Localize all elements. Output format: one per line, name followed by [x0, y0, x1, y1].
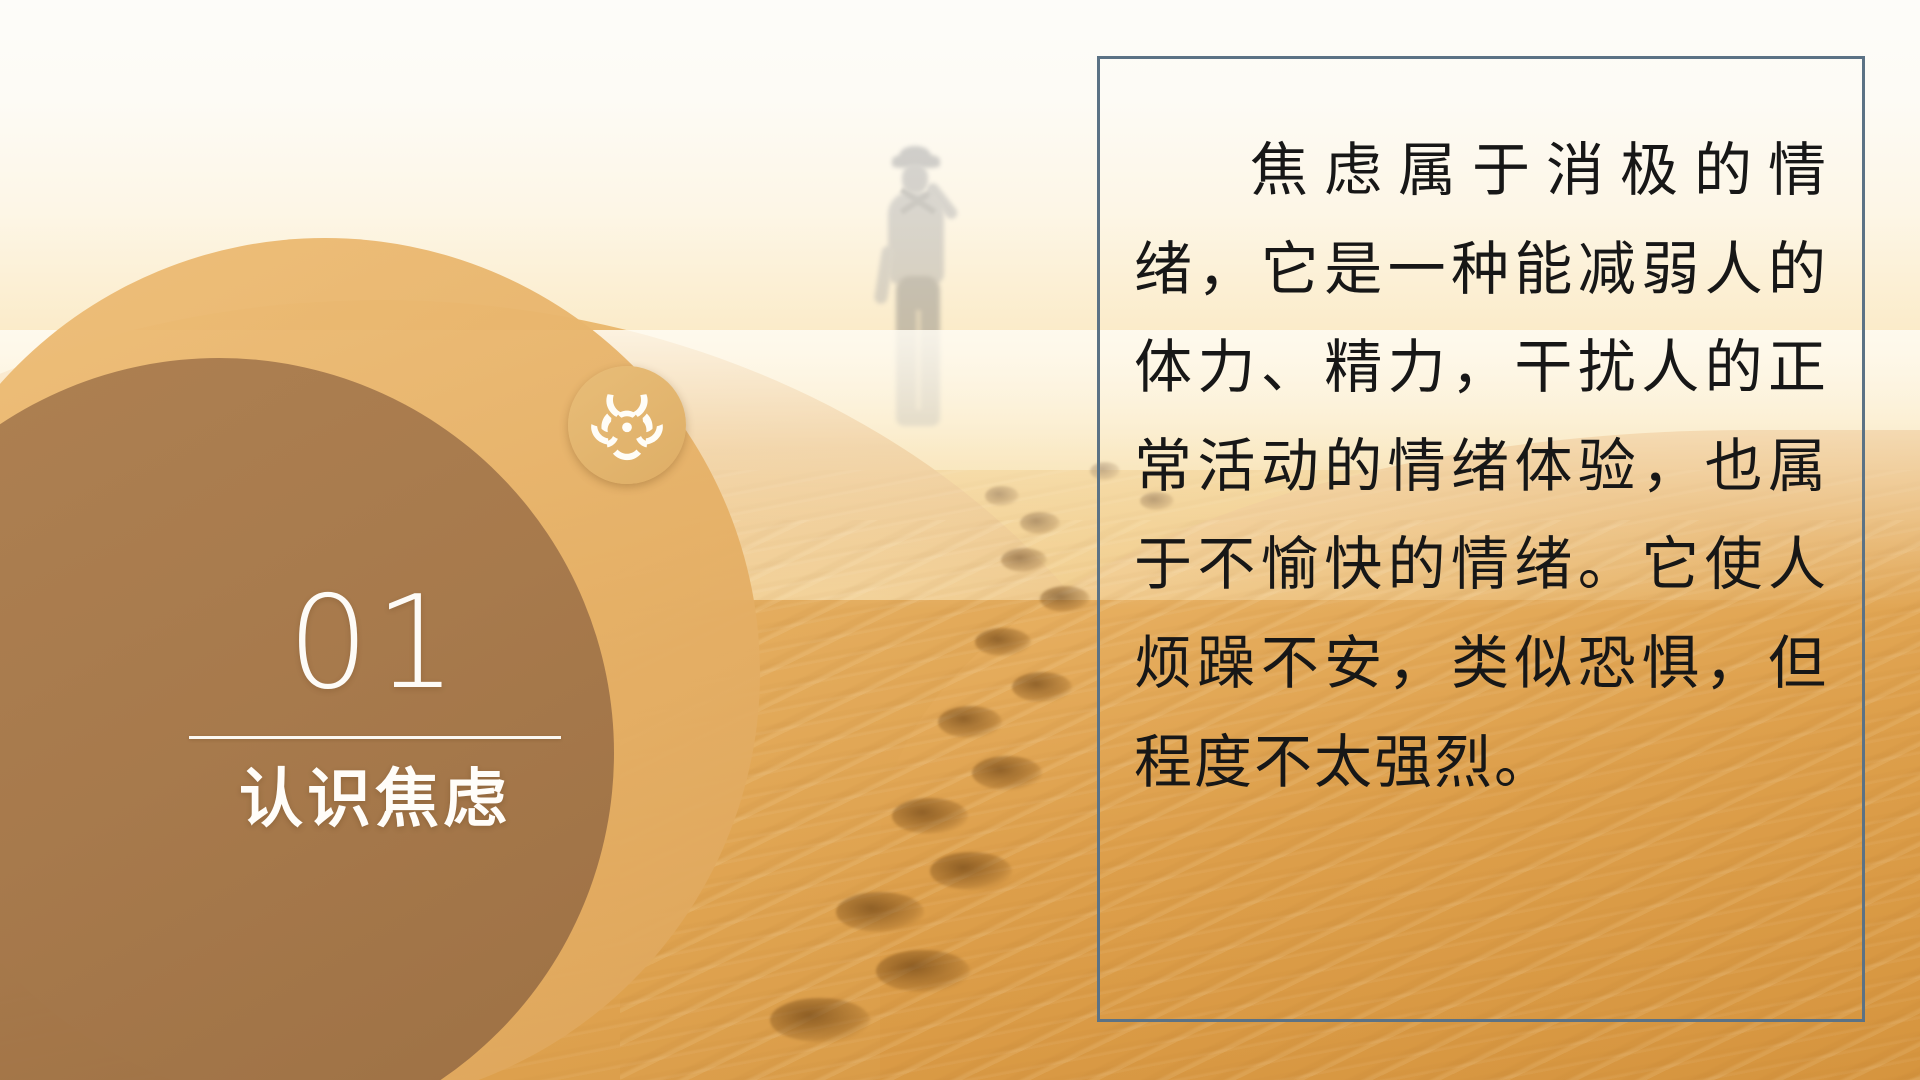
- title-divider: [189, 736, 561, 739]
- footprint: [836, 892, 924, 932]
- slide-canvas: 01 认识焦虑 焦虑属于消极的情绪，它是一种能减弱人的体力、精力，干扰人的正常活…: [0, 0, 1920, 1080]
- footprint: [985, 486, 1019, 506]
- footprint: [876, 950, 970, 992]
- section-title: 认识焦虑: [180, 765, 570, 835]
- footprint: [1001, 548, 1047, 572]
- walking-person-silhouette: [862, 150, 972, 450]
- section-number: 01: [180, 580, 570, 708]
- content-paragraph: 焦虑属于消极的情绪，它是一种能减弱人的体力、精力，干扰人的正常活动的情绪体验，也…: [1134, 121, 1828, 811]
- footprint: [972, 756, 1042, 790]
- footprint: [770, 998, 870, 1042]
- footprint: [975, 628, 1031, 656]
- section-number-block: 01 认识焦虑: [180, 580, 570, 835]
- footprint: [930, 852, 1012, 890]
- footprint: [1040, 586, 1090, 612]
- footprint: [1020, 512, 1060, 534]
- footprint: [892, 798, 968, 834]
- footprint: [938, 706, 1002, 738]
- footprint: [1012, 672, 1072, 702]
- content-text-panel: 焦虑属于消极的情绪，它是一种能减弱人的体力、精力，干扰人的正常活动的情绪体验，也…: [1097, 56, 1865, 1022]
- biohazard-badge: [568, 366, 686, 484]
- biohazard-icon: [590, 388, 664, 462]
